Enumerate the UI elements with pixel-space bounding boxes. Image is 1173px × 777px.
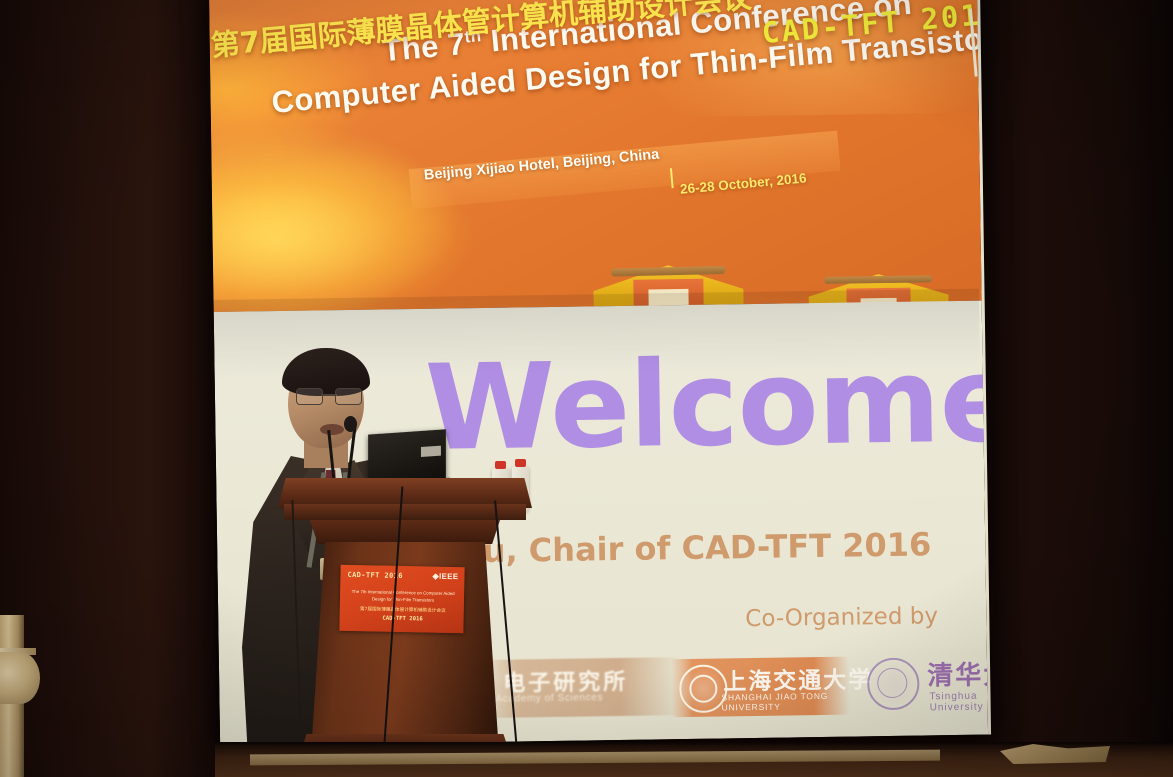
podium-sign-title-en: The 7th International Conference on Comp… [350, 589, 456, 604]
speaking-podium: CAD-TFT 2016 ◆IEEE The 7th International… [278, 478, 532, 777]
podium-sign-footer: CAD-TFT 2016 [350, 615, 456, 623]
conference-photo: The 7th International Conference on Comp… [0, 0, 1173, 777]
tsinghua-logo-chinese: 清华大学 [927, 654, 991, 693]
stage-curtain-right [975, 0, 1173, 777]
stage-pillar-cap [0, 652, 40, 704]
tsinghua-logo-english: Tsinghua University [929, 690, 991, 713]
laptop-sticker [421, 446, 441, 457]
bottle-cap [515, 459, 526, 467]
co-organized-label: Co-Organized by [745, 603, 938, 632]
podium-neck [306, 520, 504, 544]
logo-tsinghua-university: 清华大学 Tsinghua University [867, 652, 991, 712]
podium-sign-title-cn: 第7届国际薄膜晶体管计算机辅助设计会议 [350, 606, 456, 614]
microphone-head-icon [344, 416, 357, 432]
podium-lip [284, 504, 526, 520]
podium-conference-sign: CAD-TFT 2016 ◆IEEE The 7th International… [339, 565, 464, 634]
sjtu-logo-english: SHANGHAI JIAO TONG UNIVERSITY [721, 691, 849, 713]
speaker-mouth [320, 424, 344, 435]
tsinghua-seal-icon [867, 658, 920, 711]
ieee-logo-icon: ◆IEEE [433, 572, 459, 582]
speaker-glasses-icon [296, 388, 362, 404]
slide-banner: The 7th International Conference on Comp… [209, 0, 982, 312]
sjtu-seal-icon [679, 664, 728, 713]
logo-shanghai-jiao-tong-university: 上海交通大学 SHANGHAI JIAO TONG UNIVERSITY [671, 657, 850, 718]
welcome-heading: Welcome [424, 340, 991, 467]
bottle-cap [495, 461, 506, 469]
pagoda-graphic-left [593, 240, 744, 306]
